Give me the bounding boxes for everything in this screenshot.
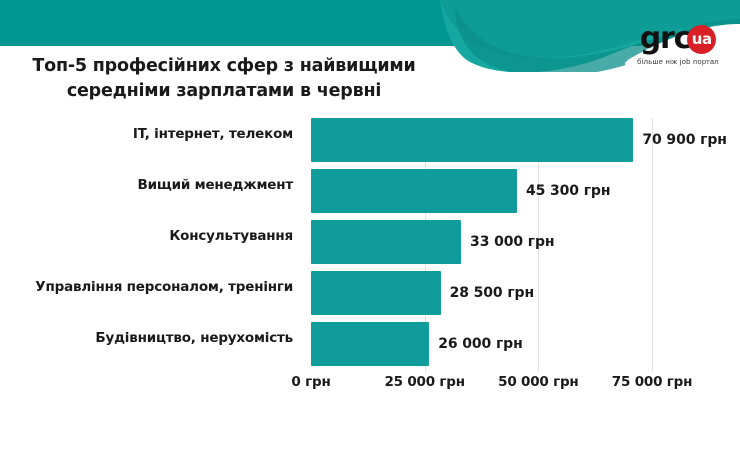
bar[interactable] xyxy=(311,118,633,162)
bar-row: Будівництво, нерухомість26 000 грн xyxy=(0,316,740,367)
chart-title: Топ-5 професійних сфер з найвищими серед… xyxy=(24,54,424,104)
bar[interactable] xyxy=(311,322,429,366)
bar[interactable] xyxy=(311,169,517,213)
bar-value-label: 28 500 грн xyxy=(450,271,534,315)
bar-value-label: 45 300 грн xyxy=(526,169,610,213)
bar-value-label: 33 000 грн xyxy=(470,220,554,264)
chart-bar-rows: IT, інтернет, телеком70 900 грнВищий мен… xyxy=(0,112,740,367)
bar-row: Консультування33 000 грн xyxy=(0,214,740,265)
bar-category-label: Консультування xyxy=(3,214,293,258)
grc-logo[interactable]: grc ua більше ніж job портал xyxy=(622,22,734,74)
bar-category-label: IT, інтернет, телеком xyxy=(3,112,293,156)
bar[interactable] xyxy=(311,220,461,264)
bar-category-label: Вищий менеджмент xyxy=(3,163,293,207)
bar-row: IT, інтернет, телеком70 900 грн xyxy=(0,112,740,163)
x-axis-tick-label: 50 000 грн xyxy=(498,374,578,390)
logo-ua-badge: ua xyxy=(687,25,716,54)
bar[interactable] xyxy=(311,271,441,315)
x-axis-tick-label: 25 000 грн xyxy=(384,374,464,390)
bar-chart: IT, інтернет, телеком70 900 грнВищий мен… xyxy=(0,112,740,402)
bar-value-label: 26 000 грн xyxy=(438,322,522,366)
infographic-canvas: grc ua більше ніж job портал Топ-5 профе… xyxy=(0,0,740,463)
bar-category-label: Будівництво, нерухомість xyxy=(3,316,293,360)
logo-tagline: більше ніж job портал xyxy=(622,57,734,66)
logo-wordmark: grc xyxy=(640,24,690,54)
x-axis-tick-label: 0 грн xyxy=(291,374,330,390)
x-axis-tick-label: 75 000 грн xyxy=(612,374,692,390)
bar-category-label: Управління персоналом, тренінги xyxy=(3,265,293,309)
bar-row: Вищий менеджмент45 300 грн xyxy=(0,163,740,214)
bar-row: Управління персоналом, тренінги28 500 гр… xyxy=(0,265,740,316)
bar-value-label: 70 900 грн xyxy=(642,118,726,162)
chart-x-axis: 0 грн25 000 грн50 000 грн75 000 грн xyxy=(0,374,740,398)
logo-wordmark-row: grc ua xyxy=(622,22,734,56)
